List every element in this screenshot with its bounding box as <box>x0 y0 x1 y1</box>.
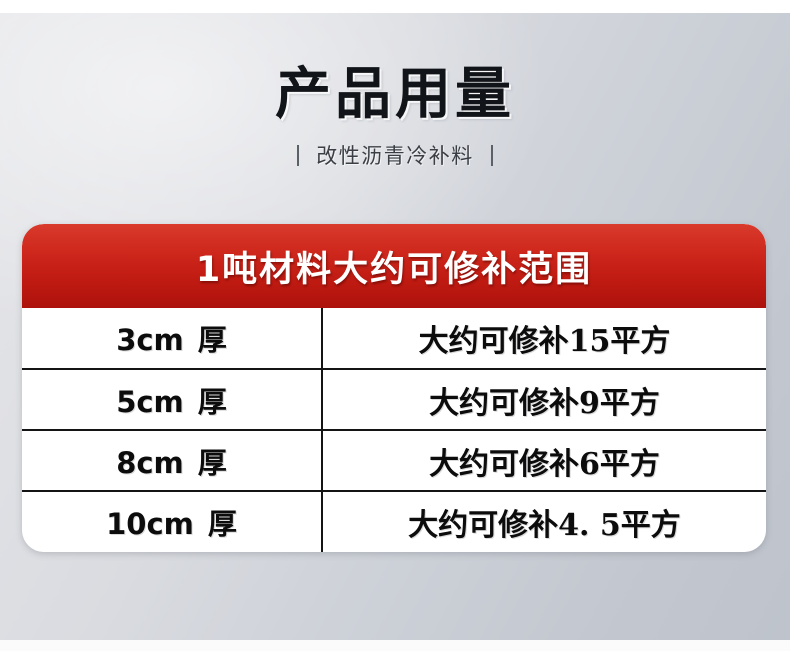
coverage-label: 大约可修补15平方 <box>419 324 671 359</box>
coverage-label: 大约可修补9平方 <box>429 386 660 421</box>
thickness-label: 3cm厚 <box>116 323 227 357</box>
table-cell-thickness: 5cm厚 <box>22 369 322 430</box>
background-bottom-strip <box>0 640 790 651</box>
thickness-label: 5cm厚 <box>116 385 227 419</box>
subtitle-row: 改性沥青冷补料 <box>0 140 790 170</box>
usage-table: 3cm厚 大约可修补15平方 5cm厚 大约可修补9平方 <box>22 308 766 552</box>
thickness-value: 5cm <box>116 385 184 419</box>
page-header: 产品用量 改性沥青冷补料 <box>0 62 790 170</box>
product-usage-infographic: 产品用量 改性沥青冷补料 1吨材料大约可修补范围 3cm厚 大约可修补15平方 <box>0 0 790 651</box>
thickness-unit-label: 厚 <box>198 446 227 480</box>
table-cell-coverage: 大约可修补4. 5平方 <box>322 491 766 552</box>
thickness-unit-label: 厚 <box>208 507 237 541</box>
thickness-value: 8cm <box>116 446 184 480</box>
subtitle-divider-right-icon <box>491 145 493 166</box>
table-cell-thickness: 10cm厚 <box>22 491 322 552</box>
table-cell-coverage: 大约可修补6平方 <box>322 430 766 491</box>
thickness-unit-label: 厚 <box>198 385 227 419</box>
usage-table-card: 1吨材料大约可修补范围 3cm厚 大约可修补15平方 5cm厚 <box>22 224 766 552</box>
table-cell-thickness: 8cm厚 <box>22 430 322 491</box>
usage-table-body: 3cm厚 大约可修补15平方 5cm厚 大约可修补9平方 <box>22 308 766 552</box>
table-row: 5cm厚 大约可修补9平方 <box>22 369 766 430</box>
thickness-unit-label: 厚 <box>198 323 227 357</box>
table-row: 10cm厚 大约可修补4. 5平方 <box>22 491 766 552</box>
thickness-value: 3cm <box>116 323 184 357</box>
background-top-strip <box>0 0 790 13</box>
subtitle-divider-left-icon <box>297 145 299 166</box>
coverage-label: 大约可修补6平方 <box>429 447 660 482</box>
table-cell-coverage: 大约可修补9平方 <box>322 369 766 430</box>
thickness-value: 10cm <box>106 507 194 541</box>
page-title: 产品用量 <box>0 62 790 128</box>
table-cell-thickness: 3cm厚 <box>22 308 322 369</box>
coverage-label: 大约可修补4. 5平方 <box>408 508 681 543</box>
usage-table-header: 1吨材料大约可修补范围 <box>22 224 766 308</box>
table-row: 8cm厚 大约可修补6平方 <box>22 430 766 491</box>
table-cell-coverage: 大约可修补15平方 <box>322 308 766 369</box>
thickness-label: 8cm厚 <box>116 446 227 480</box>
table-row: 3cm厚 大约可修补15平方 <box>22 308 766 369</box>
page-subtitle: 改性沥青冷补料 <box>316 140 474 170</box>
thickness-label: 10cm厚 <box>106 507 237 541</box>
usage-table-header-title: 1吨材料大约可修补范围 <box>196 241 592 292</box>
